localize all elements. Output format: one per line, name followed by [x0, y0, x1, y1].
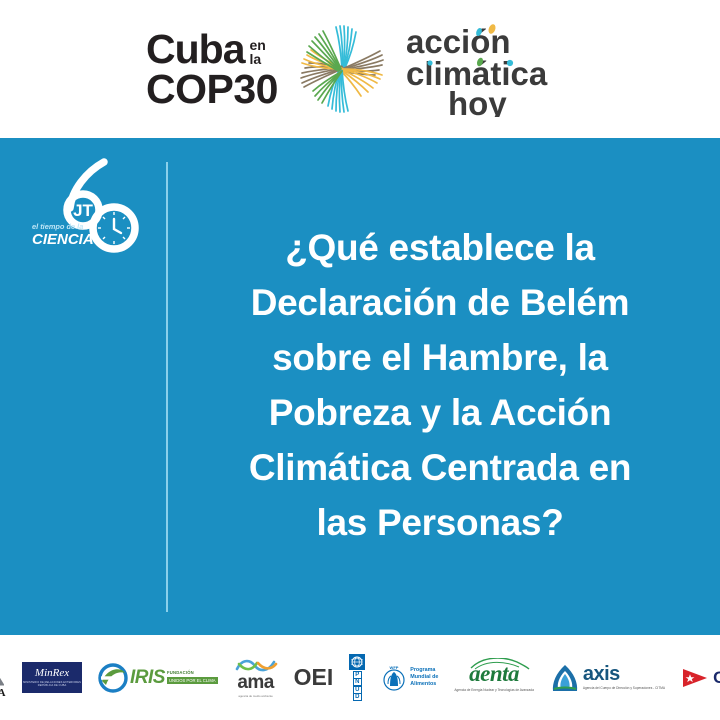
aenta-swirl-icon — [469, 658, 531, 671]
ama-sublabel: agencia de medio ambiente — [238, 694, 272, 698]
cuba-label: Cuba — [713, 668, 720, 688]
aenta-sublabel: Agencia de Energía Nuclear y Tecnologías… — [454, 688, 533, 692]
cuba-cop30-logo: Cuba en la COP30 — [146, 30, 278, 109]
logo-aenta: aenta Agencia de Energía Nuclear y Tecno… — [454, 662, 533, 692]
badge-tagline-main: CIENCIA — [32, 231, 94, 248]
cuba-la-word: la — [250, 52, 262, 66]
un-emblem-icon — [349, 654, 365, 670]
vertical-divider — [166, 162, 168, 612]
minrex-label: MinRex — [35, 668, 69, 679]
iris-toplabel: FUNDACIÓN — [167, 671, 218, 675]
citma-label: CITMA — [0, 687, 6, 699]
aniversario-60-badge: JT el tiempo de la CIENCIA — [28, 156, 140, 256]
axis-sublabel: Agencia del Cuerpo de Dirección y Supera… — [583, 686, 665, 690]
logo-minrex: MinRex MINISTERIO DE RELACIONES EXTERIOR… — [22, 662, 82, 693]
minrex-sublabel: MINISTERIO DE RELACIONES EXTERIORES REPÚ… — [22, 681, 82, 687]
iris-badge-label: UNIDOS POR EL CLIMA — [167, 677, 218, 684]
poster-canvas: Cuba en la COP30 — [0, 0, 720, 720]
accent-dot-cyan-2 — [507, 60, 513, 66]
logo-pnud: P N U D — [349, 654, 365, 701]
wfp-line-1: Programa — [410, 667, 438, 674]
ama-waves-icon — [234, 658, 278, 673]
iris-leaf-icon — [98, 663, 128, 693]
logo-oei: OEI — [294, 664, 334, 691]
accion-line3: hoy — [448, 85, 507, 117]
footer-logo-bar: CITMA MinRex MINISTERIO DE RELACIONES EX… — [0, 635, 720, 720]
question-text: ¿Qué establece la Declaración de Belém s… — [180, 220, 700, 550]
wfp-hand-icon: WFP — [381, 664, 407, 692]
svg-text:WFP: WFP — [390, 665, 399, 670]
pnud-letter-stack: P N U D — [353, 671, 362, 701]
logo-citma: CITMA — [0, 656, 6, 699]
logo-axis: axis Agencia del Cuerpo de Dirección y S… — [550, 663, 665, 693]
badge-60-ciencia-icon: JT el tiempo de la CIENCIA — [28, 156, 140, 256]
axis-delta-icon — [550, 663, 580, 693]
citma-triangle-icon — [0, 656, 4, 686]
cop30-word: COP30 — [146, 70, 278, 109]
question-line-5: Climática Centrada en — [180, 440, 700, 495]
question-line-3: sobre el Hambre, la — [180, 330, 700, 385]
wfp-line-2: Mundial de — [410, 674, 438, 681]
question-line-4: Pobreza y la Acción — [180, 385, 700, 440]
cuba-en-word: en — [250, 38, 266, 52]
header-band: Cuba en la COP30 — [0, 0, 720, 138]
logo-cuba: Cuba — [681, 666, 720, 690]
main-blue-panel: JT el tiempo de la CIENCIA — [0, 138, 720, 635]
accion-logo-text: acción climática hoy — [406, 21, 574, 117]
wfp-label-block: Programa Mundial de Alimentos — [410, 667, 438, 688]
wfp-line-3: Alimentos — [410, 681, 438, 688]
logo-ama: ama agencia de medio ambiente — [234, 658, 278, 698]
accion-climatica-hoy-logo: acción climática hoy — [406, 21, 574, 117]
logo-wfp: WFP Programa Mundial de Alimentos — [381, 664, 438, 692]
badge-jt-label: JT — [73, 201, 93, 220]
question-line-6: las Personas? — [180, 495, 700, 550]
clock-hands — [114, 219, 121, 233]
accent-dot-cyan-3 — [427, 60, 432, 65]
cuba-word: Cuba — [146, 30, 245, 69]
cuba-enla-group: en la — [250, 38, 266, 69]
ama-label: ama — [237, 673, 274, 692]
cuba-flag-triangle-icon — [681, 666, 709, 690]
question-line-1: ¿Qué establece la — [180, 220, 700, 275]
pinwheel-logo-icon — [292, 17, 392, 121]
header-logo-group: Cuba en la COP30 — [146, 17, 574, 121]
question-line-2: Declaración de Belém — [180, 275, 700, 330]
badge-tagline-top: el tiempo de la — [32, 222, 83, 231]
oei-label: OEI — [294, 664, 334, 691]
cuba-logo-line1: Cuba en la — [146, 30, 266, 69]
iris-label: IRIS — [130, 667, 165, 689]
logo-fundacion-iris: IRIS FUNDACIÓN UNIDOS POR EL CLIMA — [98, 663, 218, 693]
pnud-letter-d: D — [353, 693, 362, 701]
axis-label: axis — [583, 664, 665, 684]
